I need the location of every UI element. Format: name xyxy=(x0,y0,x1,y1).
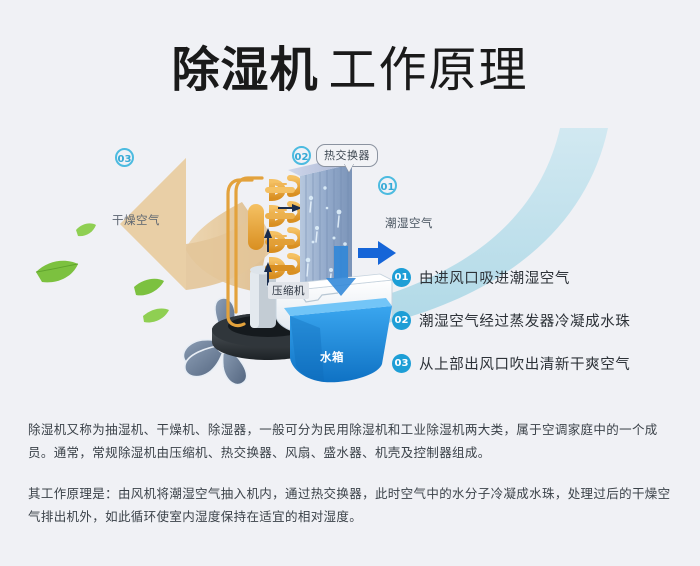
legend-text-02: 潮湿空气经过蒸发器冷凝成水珠 xyxy=(419,310,630,331)
page-title: 除湿机工作原理 xyxy=(0,30,700,100)
label-dry-air: 干燥空气 xyxy=(112,212,160,228)
description-paragraph-1: 除湿机又称为抽湿机、干燥机、除湿器，一般可分为民用除湿机和工业除湿机两大类，属于… xyxy=(28,418,678,464)
legend-text-01: 由进风口吸进潮湿空气 xyxy=(419,267,570,288)
callout-tail-icon xyxy=(344,163,354,172)
legend-item-02: 02 潮湿空气经过蒸发器冷凝成水珠 xyxy=(392,299,692,342)
label-water-tank: 水箱 xyxy=(320,349,344,365)
legend-list: 01 由进风口吸进潮湿空气 02 潮湿空气经过蒸发器冷凝成水珠 03 从上部出风… xyxy=(392,256,692,385)
page-title-main: 除湿机 xyxy=(171,42,318,98)
page-title-sub: 工作原理 xyxy=(329,42,529,98)
page-root: 除湿机工作原理 xyxy=(0,0,700,566)
marker-badge-03: 03 xyxy=(115,148,134,167)
label-compressor: 压缩机 xyxy=(268,282,309,299)
label-humid-air: 潮湿空气 xyxy=(385,215,433,231)
legend-text-03: 从上部出风口吹出清新干爽空气 xyxy=(419,353,630,374)
description-block: 除湿机又称为抽湿机、干燥机、除湿器，一般可分为民用除湿机和工业除湿机两大类，属于… xyxy=(28,418,678,546)
intake-arrow-icon xyxy=(358,241,396,265)
legend-badge-03: 03 xyxy=(392,354,411,373)
description-paragraph-2: 其工作原理是：由风机将潮湿空气抽入机内，通过热交换器，此时空气中的水分子冷凝成水… xyxy=(28,482,678,528)
legend-item-01: 01 由进风口吸进潮湿空气 xyxy=(392,256,692,299)
legend-item-03: 03 从上部出风口吹出清新干爽空气 xyxy=(392,342,692,385)
marker-badge-01: 01 xyxy=(378,176,397,195)
water-tank-icon xyxy=(284,298,392,382)
legend-badge-02: 02 xyxy=(392,311,411,330)
marker-badge-02: 02 xyxy=(292,146,311,165)
legend-badge-01: 01 xyxy=(392,268,411,287)
